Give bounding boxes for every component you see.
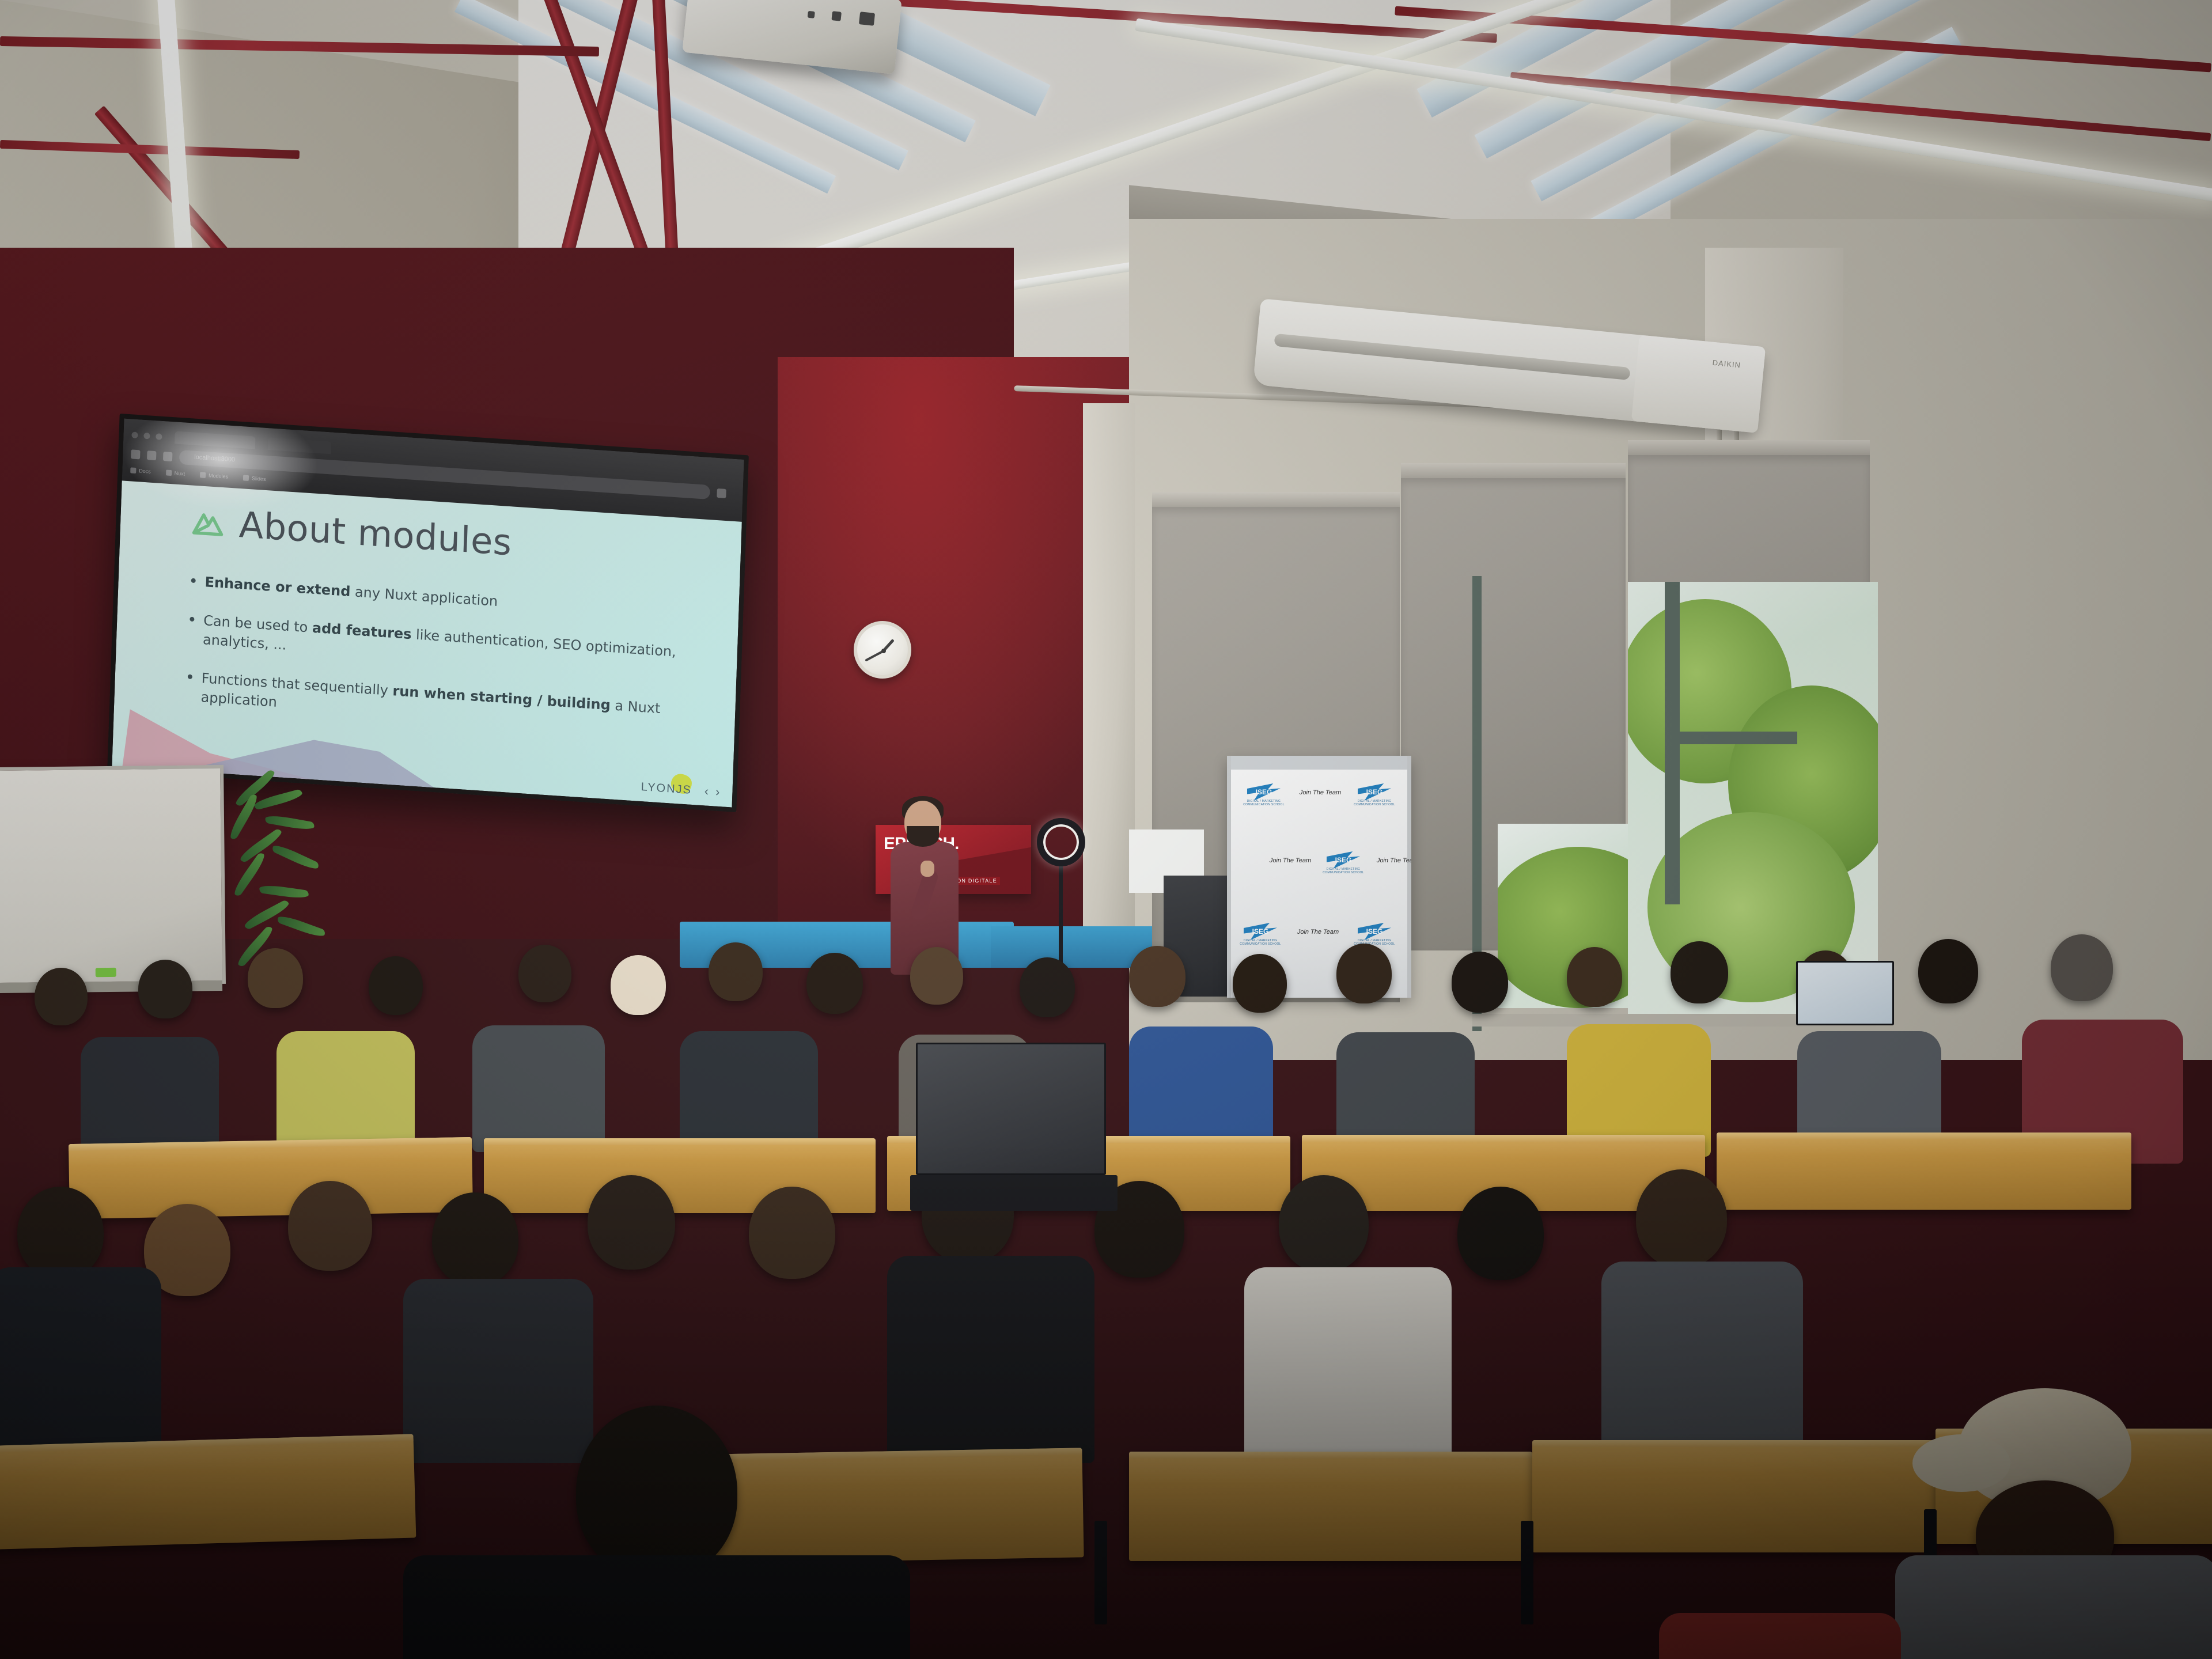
audience-head — [709, 942, 763, 1001]
bookmarks-bar[interactable]: Docs Nuxt Modules Slides — [130, 467, 266, 482]
bullet-dot-icon — [188, 675, 192, 680]
bullet-text: Enhance or extend any Nuxt application — [204, 573, 498, 611]
wall-clock — [854, 621, 911, 679]
iseg-logo-word: ISEG — [1346, 788, 1403, 796]
audience-torso — [1659, 1613, 1901, 1659]
bookmark-item[interactable]: Nuxt — [166, 469, 185, 476]
clock-center-pin — [881, 649, 886, 653]
audience-head — [1671, 941, 1728, 1003]
bookmark-icon — [200, 472, 206, 478]
bookmark-label: Modules — [209, 472, 228, 479]
slide-canvas: Reading list About modules Enhance or — [112, 480, 741, 807]
bullet-bold: add features — [312, 620, 411, 642]
nuxt-mountain-icon — [188, 507, 228, 538]
lyonjs-label: LYONJS — [641, 781, 692, 797]
audience-head — [806, 953, 863, 1014]
bullet-dot-icon — [191, 578, 196, 584]
window-minimize-icon[interactable] — [143, 432, 150, 439]
audience-head — [1129, 946, 1185, 1007]
laptop-screen[interactable] — [916, 1043, 1106, 1175]
browser-tab[interactable] — [175, 431, 256, 449]
window-close-icon[interactable] — [131, 431, 138, 438]
audience-head — [1279, 1175, 1369, 1272]
ring-light — [1037, 818, 1085, 866]
audience-head — [611, 955, 666, 1015]
audience-seating — [0, 933, 2212, 1659]
laptop-keyboard[interactable] — [910, 1175, 1118, 1211]
blind-headrail — [1401, 463, 1626, 478]
next-slide-icon[interactable]: › — [715, 785, 720, 800]
audience-torso-foreground — [403, 1555, 910, 1659]
audience-torso — [1895, 1555, 2212, 1659]
audience-head — [1567, 947, 1622, 1007]
banner-wedge — [953, 847, 1031, 894]
bench-row — [0, 1434, 416, 1550]
iseg-logo-word: ISEG — [1315, 856, 1372, 864]
slide-title-row: About modules — [188, 500, 513, 563]
presenter-hand — [921, 861, 934, 877]
audience-head — [17, 1187, 104, 1279]
bullet-dot-icon — [190, 617, 194, 622]
banner-rail — [1227, 756, 1411, 770]
screen-bezel: localhost:3000 Docs Nuxt Modules Slides … — [107, 414, 749, 812]
bookmark-item[interactable]: Docs — [130, 467, 151, 474]
laptop-screen[interactable] — [1796, 961, 1894, 1025]
audience-head-foreground — [576, 1406, 737, 1578]
bookmark-label: Docs — [139, 468, 151, 474]
iseg-subline: DIGITAL / MARKETING COMMUNICATION SCHOOL — [1346, 800, 1403, 806]
lyonjs-logo: LYONJS — [641, 781, 692, 797]
audience-head — [910, 947, 963, 1005]
menu-icon[interactable] — [717, 488, 726, 498]
audience-torso — [887, 1256, 1094, 1463]
list-item: Functions that sequentially run when sta… — [187, 668, 704, 741]
list-item: Can be used to add features like authent… — [189, 611, 707, 683]
window-mullion — [1665, 732, 1797, 744]
iseg-tagline: Join The Team — [1262, 857, 1319, 864]
browser-tab[interactable] — [268, 437, 332, 454]
audience-head — [1452, 952, 1508, 1013]
window-maximize-icon[interactable] — [156, 433, 162, 440]
iseg-subline: DIGITAL / MARKETING COMMUNICATION SCHOOL — [1235, 800, 1293, 806]
slide-navigation[interactable]: ‹ › — [704, 783, 720, 800]
bookmark-item[interactable]: Slides — [243, 475, 266, 482]
audience-head — [248, 948, 303, 1008]
bullet-bold: run when starting / building — [392, 683, 611, 713]
audience-head — [1020, 957, 1075, 1017]
prev-slide-icon[interactable]: ‹ — [704, 783, 709, 798]
blind-headrail — [1628, 440, 1870, 455]
bullet-text: Can be used to add features like authent… — [203, 611, 707, 683]
audience-head — [1636, 1169, 1727, 1267]
bookmark-icon — [243, 475, 249, 481]
url-text: localhost:3000 — [194, 454, 235, 464]
iseg-tagline: Join The Team — [1291, 789, 1349, 796]
audience-head — [588, 1175, 675, 1270]
slide-footer: LYONJS ‹ › — [641, 779, 720, 800]
bench-leg — [1094, 1521, 1107, 1624]
audience-torso — [0, 1267, 161, 1452]
audience-torso — [1244, 1267, 1452, 1469]
bench-row — [1532, 1440, 1935, 1552]
bullet-rest: any Nuxt application — [350, 584, 498, 609]
audience-head — [35, 968, 88, 1025]
browser-tab-label: Slides — [252, 475, 266, 482]
audience-head — [1918, 939, 1978, 1003]
audience-head — [749, 1187, 835, 1279]
audience-torso — [403, 1279, 593, 1463]
lecture-hall-photo: DAIKIN — [0, 0, 2212, 1659]
audience-torso — [1601, 1262, 1803, 1463]
bookmark-icon — [166, 469, 172, 476]
bullet-text: Functions that sequentially run when sta… — [200, 669, 704, 740]
bench-row — [1129, 1452, 1532, 1561]
audience-head — [288, 1181, 372, 1271]
forward-arrow-icon[interactable] — [147, 450, 157, 460]
audience-head — [138, 960, 192, 1018]
iseg-tagline: Join The Team — [1369, 857, 1411, 864]
audience-head — [1233, 954, 1287, 1013]
bench-leg — [1521, 1521, 1533, 1624]
bookmark-icon — [130, 467, 136, 474]
audience-head — [432, 1192, 518, 1286]
page-title: About modules — [238, 503, 513, 563]
presenter-beard — [907, 826, 939, 847]
ac-endcap — [1631, 335, 1766, 433]
structural-pillar — [1083, 403, 1135, 968]
ac-vent — [1274, 334, 1630, 380]
audience-head — [1457, 1187, 1544, 1280]
audience-head — [518, 945, 571, 1002]
audience-head — [2051, 934, 2113, 1001]
slide-bullet-list: Enhance or extend any Nuxt application C… — [186, 572, 708, 760]
cap-brim — [1912, 1434, 2010, 1492]
back-arrow-icon[interactable] — [131, 449, 141, 459]
audience-torso — [472, 1025, 605, 1152]
projection-screen: localhost:3000 Docs Nuxt Modules Slides … — [107, 414, 749, 812]
iseg-logo-word: ISEG — [1235, 788, 1293, 796]
bookmark-item[interactable]: Modules — [200, 472, 228, 479]
blind-headrail — [1152, 492, 1400, 507]
audience-head — [369, 956, 423, 1015]
bullet-bold: Enhance or extend — [204, 574, 351, 600]
bench-row — [1717, 1132, 2131, 1210]
iseg-subline: DIGITAL / MARKETING COMMUNICATION SCHOOL — [1315, 868, 1372, 874]
bookmark-label: Nuxt — [175, 470, 185, 476]
audience-head — [1336, 944, 1392, 1003]
reload-icon[interactable] — [163, 452, 173, 461]
bench-row — [69, 1137, 473, 1219]
